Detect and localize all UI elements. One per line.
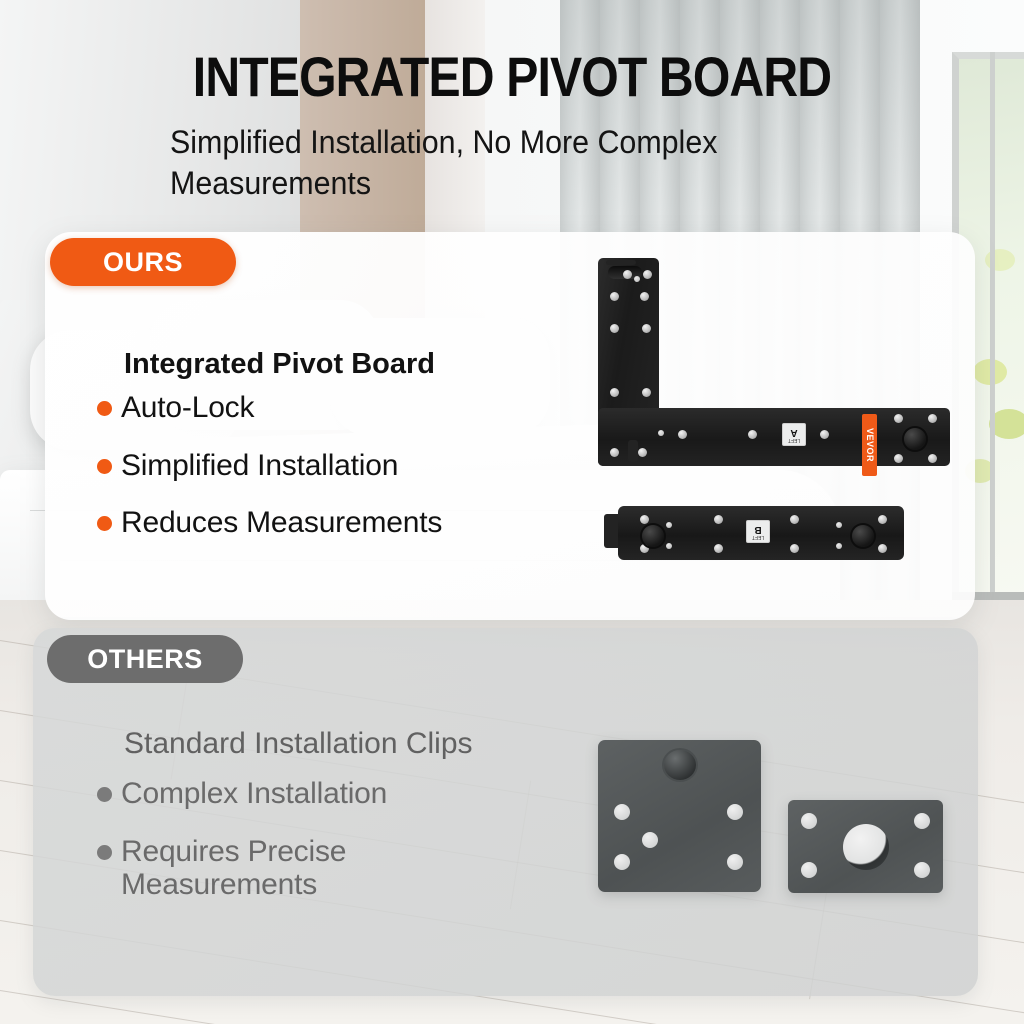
bullet-dot-icon [97, 845, 112, 860]
pivot-bushing [852, 525, 874, 547]
list-item: Requires Precise Measurements [97, 836, 567, 901]
bolt-hole [642, 388, 651, 397]
bolt-hole [658, 430, 664, 436]
product-square-clip-plate [598, 740, 761, 892]
list-item-label: Complex Installation [121, 778, 387, 810]
list-item: Auto-Lock [97, 392, 567, 424]
bolt-hole [748, 430, 757, 439]
bolt-hole [610, 292, 619, 301]
page-subtitle: Simplified Installation, No More Complex… [170, 122, 835, 204]
bullet-dot-icon [97, 787, 112, 802]
bolt-hole [727, 804, 743, 820]
list-item-label: Auto-Lock [121, 392, 254, 424]
pivot-bushing [642, 525, 664, 547]
bolt-hole [640, 515, 649, 524]
list-item: Reduces Measurements [97, 507, 567, 539]
list-item: Simplified Installation [97, 450, 567, 482]
bolt-hole [714, 515, 723, 524]
bolt-hole [836, 543, 842, 549]
bolt-hole [894, 414, 903, 423]
others-heading: Standard Installation Clips [124, 727, 473, 761]
bullet-dot-icon [97, 401, 112, 416]
bolt-hole [642, 832, 658, 848]
bolt-hole [820, 430, 829, 439]
bolt-hole [801, 862, 817, 878]
others-feature-list: Complex Installation Requires Precise Me… [97, 778, 567, 927]
window-mullion [990, 52, 995, 592]
bolt-hole [634, 276, 640, 282]
sticker-code-text: B [754, 524, 761, 534]
page-title: INTEGRATED PIVOT BOARD [72, 44, 953, 109]
bolt-hole [914, 813, 930, 829]
sticker-code-text: A [790, 427, 797, 437]
bolt-hole [928, 454, 937, 463]
product-bar-pivot-board: LEFT B [604, 502, 904, 564]
edge-tab [606, 260, 636, 265]
ours-badge: OURS [50, 238, 236, 286]
bullet-dot-icon [97, 516, 112, 531]
part-label-sticker-b: LEFT B [746, 520, 770, 543]
vevor-brand-label: VEVOR [862, 414, 877, 476]
bolt-hole [678, 430, 687, 439]
bullet-dot-icon [97, 459, 112, 474]
bolt-hole [638, 448, 647, 457]
bolt-hole [614, 854, 630, 870]
bolt-hole [801, 813, 817, 829]
bolt-hole [643, 270, 652, 279]
bolt-hole [894, 454, 903, 463]
bolt-hole [727, 854, 743, 870]
bolt-hole [614, 804, 630, 820]
bolt-hole [666, 522, 672, 528]
bolt-hole [714, 544, 723, 553]
bolt-hole [610, 388, 619, 397]
list-item-label: Requires Precise Measurements [121, 836, 421, 901]
bolt-hole [878, 544, 887, 553]
vevor-brand-text: VEVOR [865, 428, 875, 462]
ours-heading: Integrated Pivot Board [124, 348, 435, 381]
bolt-hole [878, 515, 887, 524]
product-rect-clip-plate [788, 800, 943, 893]
bolt-hole [928, 414, 937, 423]
bolt-hole [790, 544, 799, 553]
pivot-bushing [904, 428, 926, 450]
others-badge: OTHERS [47, 635, 243, 683]
bolt-hole [623, 270, 632, 279]
bolt-hole [610, 324, 619, 333]
bolt-hole [836, 522, 842, 528]
bolt-hole [642, 324, 651, 333]
list-item-label: Simplified Installation [121, 450, 398, 482]
bolt-hole [640, 292, 649, 301]
bolt-hole [666, 543, 672, 549]
list-item: Complex Installation [97, 778, 567, 810]
clip-pin-knob [664, 750, 696, 780]
bolt-hole [914, 862, 930, 878]
clip-center-bore [843, 824, 889, 870]
bolt-hole [610, 448, 619, 457]
list-item-label: Reduces Measurements [121, 507, 442, 539]
edge-tab [628, 440, 638, 462]
part-label-sticker-a: LEFT A [782, 423, 806, 446]
bolt-hole [790, 515, 799, 524]
infographic-canvas: INTEGRATED PIVOT BOARD Simplified Instal… [0, 0, 1024, 1024]
product-l-pivot-board: LEFT A VEVOR [598, 258, 958, 490]
ours-feature-list: Auto-Lock Simplified Installation Reduce… [97, 392, 567, 565]
